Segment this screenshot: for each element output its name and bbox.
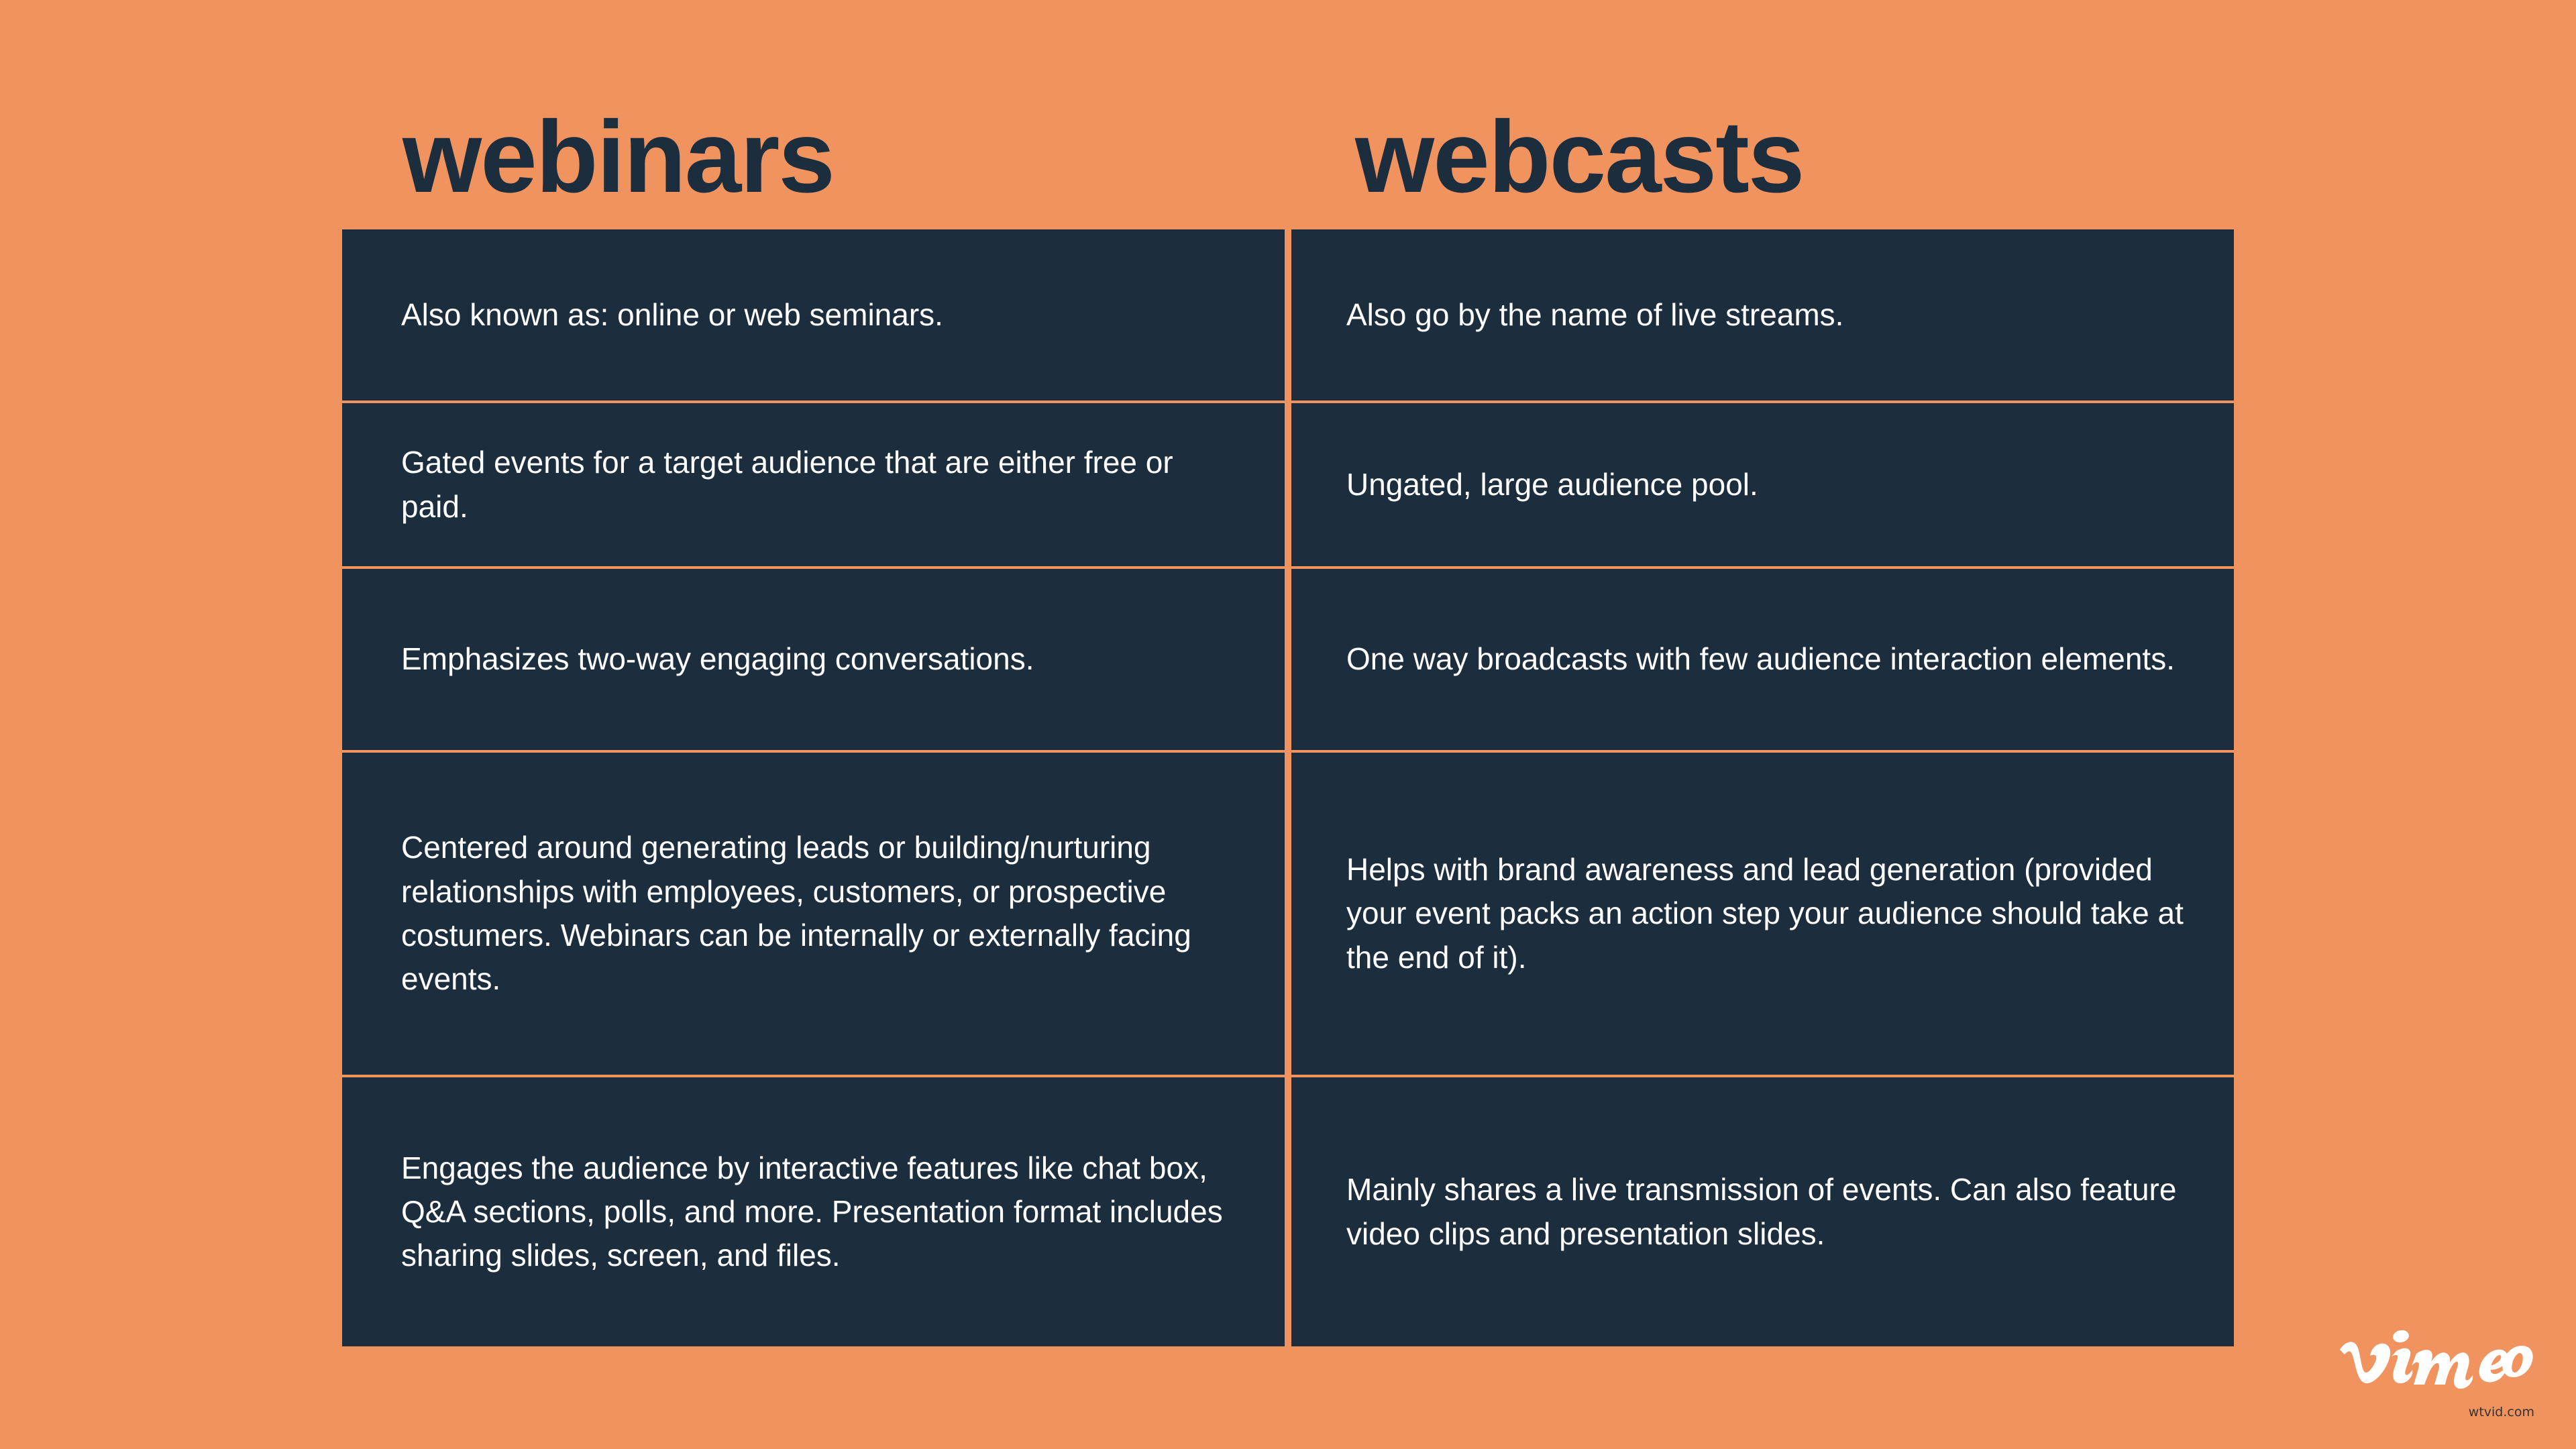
table-cell-webinars: Gated events for a target audience that … [342, 403, 1285, 566]
cell-text: Centered around generating leads or buil… [401, 826, 1244, 1001]
table-row: Also known as: online or web seminars. A… [342, 229, 2234, 403]
heading-cell-webinars: webinars [342, 67, 1281, 208]
table-row: Gated events for a target audience that … [342, 403, 2234, 569]
cell-text: Helps with brand awareness and lead gene… [1346, 848, 2194, 979]
cell-text: Also known as: online or web seminars. [401, 293, 943, 337]
table-cell-webinars: Emphasizes two-way engaging conversation… [342, 569, 1285, 750]
column-headings: webinars webcasts [342, 67, 2234, 208]
cell-text: Also go by the name of live streams. [1346, 293, 1843, 337]
page-title-webinars: webinars [342, 106, 834, 208]
cell-text: Ungated, large audience pool. [1346, 463, 1758, 506]
vimeo-logo [2334, 1322, 2536, 1395]
cell-text: One way broadcasts with few audience int… [1346, 637, 2175, 681]
table-cell-webcasts: Ungated, large audience pool. [1291, 403, 2234, 566]
table-cell-webinars: Centered around generating leads or buil… [342, 753, 1285, 1075]
cell-text: Mainly shares a live transmission of eve… [1346, 1168, 2194, 1256]
page-title-webcasts: webcasts [1295, 106, 1803, 208]
site-watermark: wtvid.com [2469, 1405, 2534, 1419]
table-row: Centered around generating leads or buil… [342, 753, 2234, 1077]
slide-canvas: webinars webcasts Also known as: online … [0, 0, 2576, 1449]
table-row: Emphasizes two-way engaging conversation… [342, 569, 2234, 753]
footer-branding: wtvid.com [2308, 1322, 2536, 1409]
table-cell-webcasts: Mainly shares a live transmission of eve… [1291, 1077, 2234, 1346]
cell-text: Emphasizes two-way engaging conversation… [401, 637, 1034, 681]
table-cell-webcasts: Helps with brand awareness and lead gene… [1291, 753, 2234, 1075]
heading-cell-webcasts: webcasts [1295, 67, 2234, 208]
table-cell-webcasts: Also go by the name of live streams. [1291, 229, 2234, 400]
table-row: Engages the audience by interactive feat… [342, 1077, 2234, 1346]
comparison-table: Also known as: online or web seminars. A… [342, 229, 2234, 1338]
table-cell-webinars: Engages the audience by interactive feat… [342, 1077, 1285, 1346]
cell-text: Engages the audience by interactive feat… [401, 1146, 1244, 1278]
table-cell-webinars: Also known as: online or web seminars. [342, 229, 1285, 400]
cell-text: Gated events for a target audience that … [401, 441, 1244, 529]
table-cell-webcasts: One way broadcasts with few audience int… [1291, 569, 2234, 750]
